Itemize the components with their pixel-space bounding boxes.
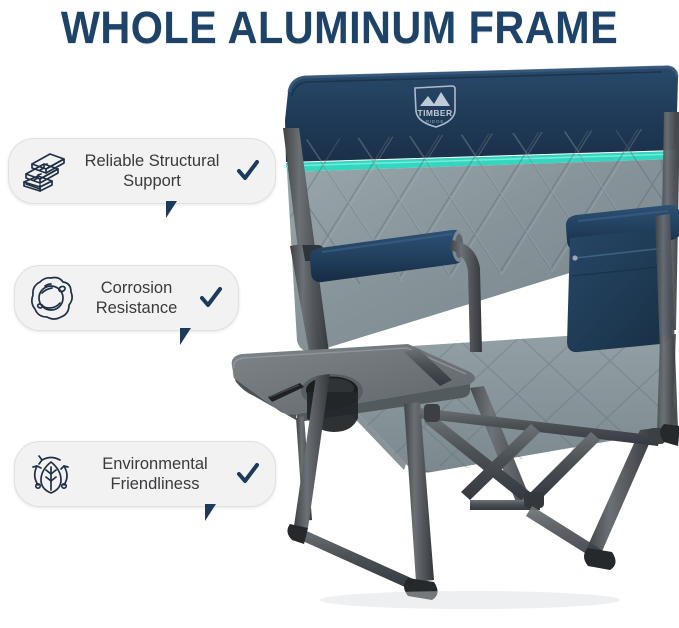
right-armrest-padded bbox=[566, 205, 679, 250]
phone-slot bbox=[268, 383, 304, 402]
callout-pointer-2 bbox=[180, 328, 199, 345]
stacked-aluminum-beams-icon bbox=[19, 145, 71, 197]
left-armrest-padded bbox=[293, 230, 466, 282]
callout-label: Reliable Structural Support bbox=[71, 151, 233, 191]
checkmark-icon bbox=[233, 459, 263, 489]
cross-brace bbox=[418, 404, 665, 510]
callout-reliable-structural-support[interactable]: Reliable Structural Support bbox=[8, 138, 276, 204]
corroded-ring-icon bbox=[25, 272, 77, 324]
checkmark-icon bbox=[233, 156, 263, 186]
callout-pointer-1 bbox=[166, 201, 185, 218]
table-support-arm bbox=[296, 348, 452, 521]
callout-corrosion-resistance[interactable]: Corrosion Resistance bbox=[14, 265, 239, 331]
page-title: WHOLE ALUMINUM FRAME bbox=[27, 2, 652, 54]
teal-accent-stripe bbox=[286, 151, 676, 172]
callout-label: Corrosion Resistance bbox=[77, 278, 196, 318]
right-front-upright bbox=[655, 214, 678, 432]
product-infographic: WHOLE ALUMINUM FRAME bbox=[0, 0, 679, 628]
svg-text:RIDGE: RIDGE bbox=[426, 119, 445, 124]
side-storage-pocket bbox=[567, 228, 672, 352]
callout-pointer-3 bbox=[205, 504, 224, 521]
callout-environmental-friendliness[interactable]: Environmental Friendliness bbox=[14, 441, 276, 507]
left-arm-support-tube bbox=[290, 240, 482, 374]
checkmark-icon bbox=[196, 283, 226, 313]
pocket-zipper bbox=[575, 248, 665, 258]
rubber-feet bbox=[287, 424, 679, 600]
brand-logo-badge: TIMBER RIDGE bbox=[415, 86, 455, 127]
rear-legs bbox=[294, 334, 676, 528]
quilted-gray-seat bbox=[316, 312, 679, 480]
backrest-navy-upper bbox=[285, 66, 678, 162]
aluminum-frame-legs bbox=[283, 112, 679, 362]
callout-label: Environmental Friendliness bbox=[77, 454, 233, 494]
quilted-gray-backrest bbox=[250, 106, 679, 352]
leaf-recycle-icon bbox=[25, 448, 77, 500]
side-table-tray bbox=[232, 344, 475, 432]
cup-holder bbox=[301, 374, 363, 432]
front-legs bbox=[404, 386, 656, 582]
svg-text:TIMBER: TIMBER bbox=[418, 108, 453, 118]
